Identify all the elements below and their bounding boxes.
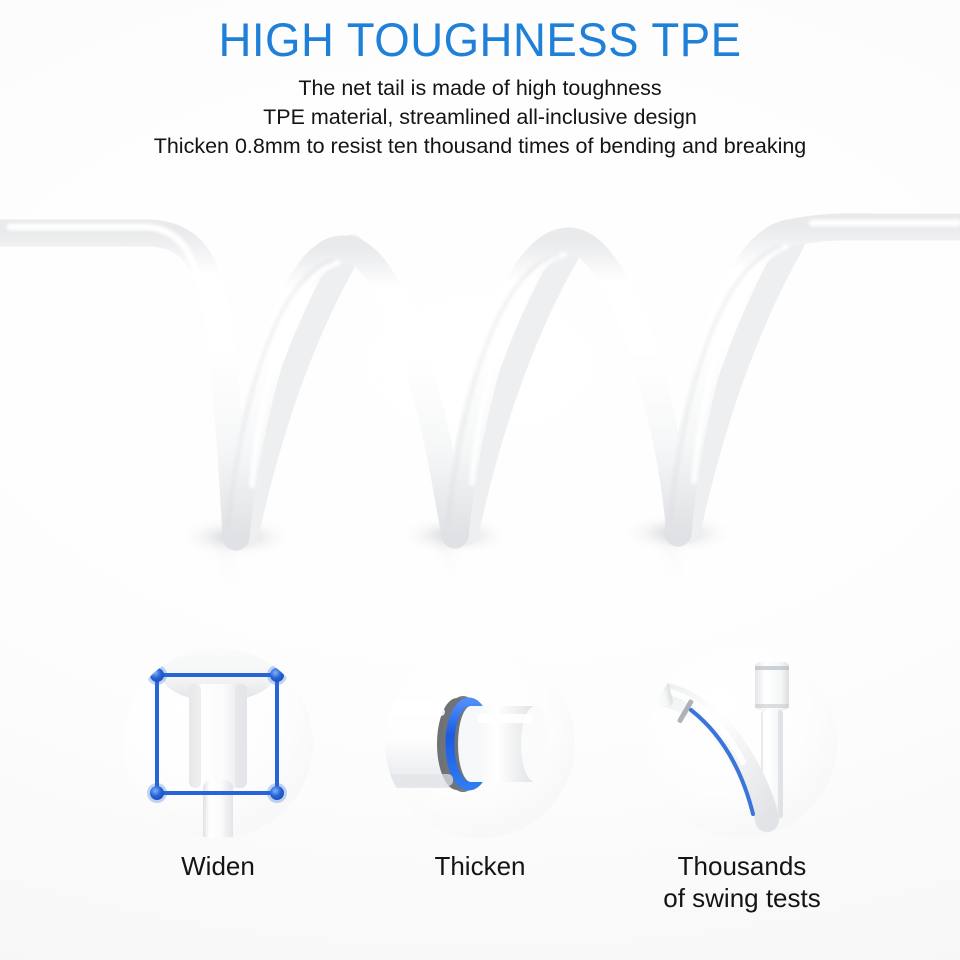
feature-thicken-label: Thicken	[434, 850, 525, 882]
feature-swing-tests[interactable]: Thousands of swing tests	[611, 648, 873, 914]
feature-swing-icon-wrap	[647, 648, 837, 838]
header: HIGH TOUGHNESS TPE The net tail is made …	[0, 0, 960, 161]
feature-widen-icon-wrap	[123, 648, 313, 838]
cable-bend-swing-icon	[647, 648, 837, 838]
page-title: HIGH TOUGHNESS TPE	[14, 14, 945, 66]
handle-dot-top-right	[270, 668, 284, 682]
handle-dot-top-left	[150, 668, 164, 682]
subtitle-line-2: TPE material, streamlined all-inclusive …	[0, 103, 960, 132]
hero-cable-image	[0, 185, 960, 615]
feature-thicken-icon-wrap	[385, 648, 575, 838]
cable-cross-section-ring-icon	[385, 648, 575, 838]
cable-connector-width-measure-icon	[123, 648, 313, 838]
feature-widen-label: Widen	[181, 850, 255, 882]
bent-cable	[647, 679, 767, 820]
handle-dot-bottom-left	[150, 786, 164, 800]
subtitle-line-3: Thicken 0.8mm to resist ten thousand tim…	[0, 132, 960, 161]
feature-list: Widen	[0, 648, 960, 948]
subtitle-line-1: The net tail is made of high toughness	[0, 74, 960, 103]
connector-tail	[203, 780, 233, 838]
subtitle-block: The net tail is made of high toughness T…	[0, 74, 960, 161]
feature-widen[interactable]: Widen	[87, 648, 349, 882]
feature-thicken[interactable]: Thicken	[349, 648, 611, 882]
coiled-cable-illustration	[0, 185, 960, 615]
feature-swing-label: Thousands of swing tests	[663, 850, 821, 914]
product-feature-page: HIGH TOUGHNESS TPE The net tail is made …	[0, 0, 960, 960]
handle-dot-bottom-right	[270, 786, 284, 800]
